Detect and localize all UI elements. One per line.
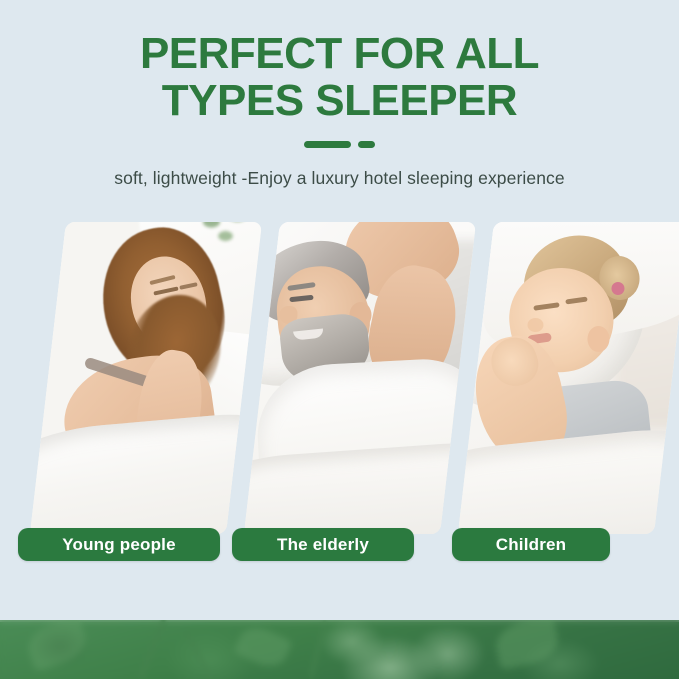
child-hair-tie xyxy=(611,282,624,295)
poster: PERFECT FOR ALL TYPES SLEEPER soft, ligh… xyxy=(0,0,679,679)
caption-label: Children xyxy=(496,535,567,555)
photo-children xyxy=(458,222,679,534)
photo-the-elderly xyxy=(244,222,476,534)
panel-row xyxy=(0,0,679,600)
photo-panel-young-people xyxy=(30,222,262,534)
caption-young-people: Young people xyxy=(18,528,220,561)
caption-label: Young people xyxy=(62,535,176,555)
photo-young-people xyxy=(30,222,262,534)
caption-the-elderly: The elderly xyxy=(232,528,414,561)
caption-children: Children xyxy=(452,528,610,561)
photo-panel-the-elderly xyxy=(244,222,476,534)
band-blur-overlay xyxy=(0,620,679,679)
child-ear xyxy=(587,326,609,352)
photo-panel-children xyxy=(458,222,679,534)
caption-label: The elderly xyxy=(277,535,369,555)
bottom-foliage-band xyxy=(0,620,679,679)
child-nose xyxy=(527,318,543,332)
